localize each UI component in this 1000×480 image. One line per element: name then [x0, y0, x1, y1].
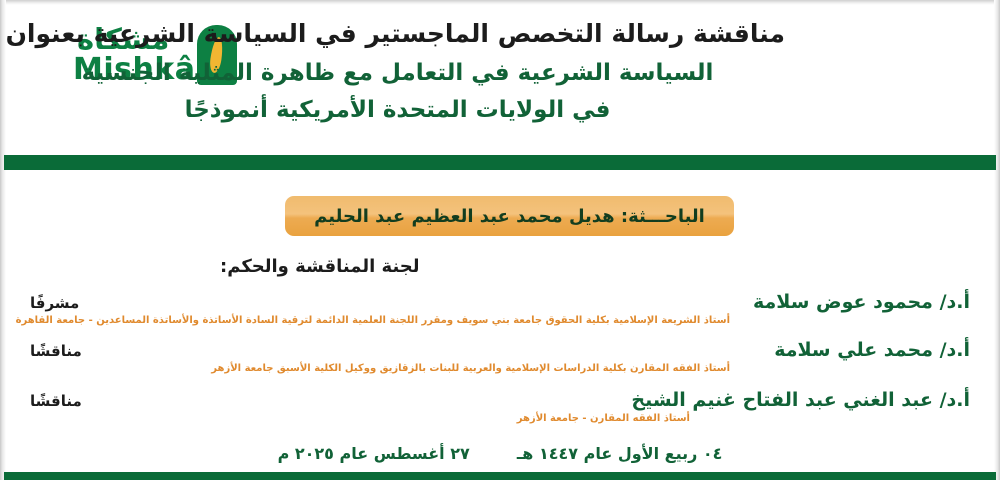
member-description: أستاذ الشريعة الإسلامية بكلية الحقوق جام… [16, 314, 730, 328]
committee-member-row: أ.د/ عبد الغني عبد الفتاح غنيم الشيخ أست… [0, 388, 1000, 436]
title-line-3: في الولايات المتحدة الأمريكية أنموذجًا [10, 94, 785, 127]
defense-dates: ٠٤ ربيع الأول عام ١٤٤٧ هـ ٢٧ أغسطس عام ٢… [0, 444, 1000, 463]
committee-heading: لجنة المناقشة والحكم: [220, 256, 1000, 277]
researcher-section: الباحـــثة: هديل محمد عبد العظيم عبد الح… [0, 196, 1000, 238]
committee-member-row: أ.د/ محمود عوض سلامة أستاذ الشريعة الإسل… [0, 290, 1000, 338]
committee-member-row: أ.د/ محمد علي سلامة أستاذ الفقه المقارن … [0, 338, 1000, 386]
green-footer-band [4, 472, 996, 480]
title-line-1: مناقشة رسالة التخصص الماجستير في السياسة… [10, 17, 785, 51]
title-line-2: السياسة الشرعية في التعامل مع ظاهرة المث… [10, 57, 785, 90]
thesis-defense-poster: مشكاة Mishkâh مناقشة رسالة التخصص الماجس… [0, 0, 1000, 480]
member-name: أ.د/ عبد الغني عبد الفتاح غنيم الشيخ [631, 388, 970, 412]
member-role: مشرفًا [30, 292, 79, 314]
member-role: مناقشًا [30, 340, 82, 362]
green-divider-band [4, 155, 996, 170]
page-title: مناقشة رسالة التخصص الماجستير في السياسة… [10, 17, 785, 127]
committee-heading-label: لجنة المناقشة والحكم: [220, 256, 420, 277]
member-description: أستاذ الفقه المقارن بكلية الدراسات الإسل… [211, 362, 730, 376]
member-name: أ.د/ محمد علي سلامة [774, 338, 970, 362]
researcher-badge: الباحـــثة: هديل محمد عبد العظيم عبد الح… [285, 196, 734, 236]
member-role: مناقشًا [30, 390, 82, 412]
date-gregorian: ٢٧ أغسطس عام ٢٠٢٥ م [278, 444, 470, 463]
member-name: أ.د/ محمود عوض سلامة [753, 290, 970, 314]
date-hijri: ٠٤ ربيع الأول عام ١٤٤٧ هـ [517, 444, 723, 463]
member-description: أستاذ الفقه المقارن - جامعة الأزهر [517, 412, 690, 426]
poster-header: مشكاة Mishkâh مناقشة رسالة التخصص الماجس… [0, 5, 1000, 155]
researcher-name: الباحـــثة: هديل محمد عبد العظيم عبد الح… [314, 206, 705, 227]
